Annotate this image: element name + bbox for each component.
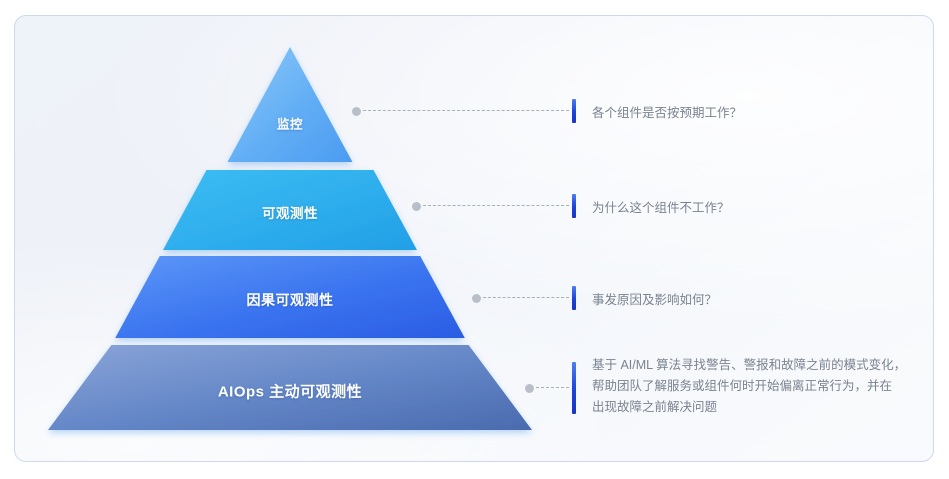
connector-line [536,387,569,388]
pyramid-label-aiops: AIOps 主动可观测性 [218,381,362,402]
connector-dot-icon [352,107,361,116]
annotation-text-aiops: 基于 AI/ML 算法寻找警告、警报和故障之前的模式变化， 帮助团队了解服务或组… [592,355,937,418]
accent-bar [572,194,576,218]
pyramid-label-observability: 可观测性 [262,202,318,222]
connector-dot-icon [472,294,481,303]
connector-line [363,110,569,111]
annotation-text-observability: 为什么这个组件不工作？ [592,198,922,219]
connector-line [483,297,569,298]
connector-dot-icon [412,202,421,211]
accent-bar [572,99,576,123]
pyramid-label-causal-observability: 因果可观测性 [247,290,334,310]
connector-line [423,205,569,206]
connector-dot-icon [525,384,534,393]
accent-bar [572,362,576,414]
annotation-text-causal-observability: 事发原因及影响如何？ [592,290,922,311]
diagram-canvas: 监控 可观测性 因果可观测性 AIOps 主动可观测性 各个组件是否按预期工作？… [0,0,949,479]
accent-bar [572,286,576,310]
annotation-text-monitoring: 各个组件是否按预期工作？ [592,103,922,124]
pyramid-label-monitoring: 监控 [277,114,303,133]
